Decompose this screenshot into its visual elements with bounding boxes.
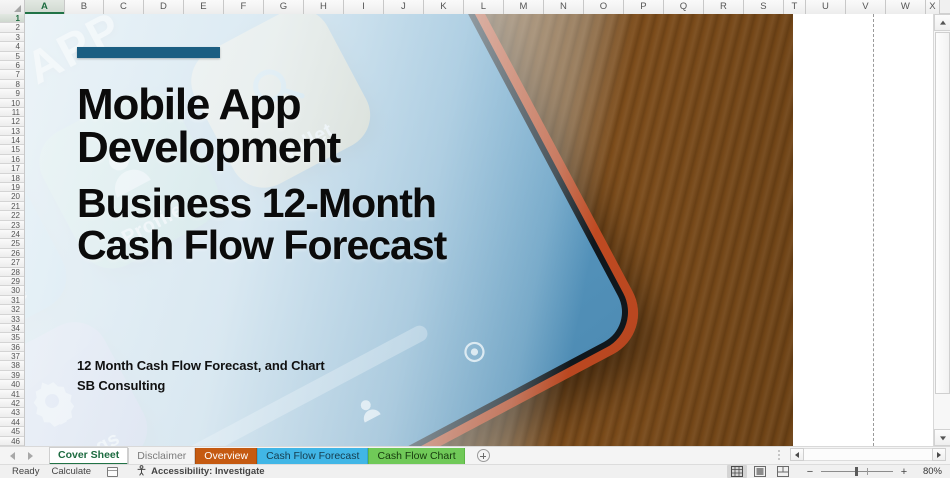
add-sheet-button[interactable]	[477, 449, 490, 462]
accessibility-status[interactable]: Accessibility: Investigate	[136, 465, 265, 478]
page-title: Mobile App Development	[77, 84, 697, 169]
page-subtitle: Business 12-Month Cash Flow Forecast	[77, 183, 697, 267]
row-header-4[interactable]: 4	[0, 42, 24, 51]
row-header-13[interactable]: 13	[0, 127, 24, 136]
row-header-30[interactable]: 30	[0, 286, 24, 295]
zoom-level-label[interactable]: 80%	[916, 466, 942, 477]
column-header-c[interactable]: C	[104, 0, 144, 14]
sheet-tab-cash-flow-forecast[interactable]: Cash Flow Forecast	[257, 448, 368, 465]
sheet-tab-overview[interactable]: Overview	[195, 448, 257, 465]
zoom-in-button[interactable]: +	[898, 466, 910, 478]
sheet-tabs[interactable]: Cover SheetDisclaimerOverviewCash Flow F…	[49, 447, 465, 465]
scroll-down-button[interactable]	[934, 429, 950, 446]
cover-text-block: Mobile App Development Business 12-Month…	[77, 84, 697, 267]
excel-window: ABCDEFGHIJKLMNOPQRSTUVWX 123456789101112…	[0, 0, 950, 478]
sheet-tab-label: Cover Sheet	[58, 447, 119, 463]
row-header-15[interactable]: 15	[0, 145, 24, 154]
column-header-u[interactable]: U	[806, 0, 846, 14]
row-header-9[interactable]: 9	[0, 89, 24, 98]
status-calculate[interactable]: Calculate	[51, 466, 91, 477]
row-header-19[interactable]: 19	[0, 183, 24, 192]
row-header-23[interactable]: 23	[0, 221, 24, 230]
row-header-7[interactable]: 7	[0, 70, 24, 79]
cover-image[interactable]: 9:41 MOBILE APP	[25, 14, 793, 446]
row-header-16[interactable]: 16	[0, 155, 24, 164]
column-header-q[interactable]: Q	[664, 0, 704, 14]
print-area-boundary	[873, 14, 874, 446]
sheet-tab-disclaimer[interactable]: Disclaimer	[128, 448, 195, 465]
select-all-button[interactable]	[0, 0, 25, 14]
row-header-39[interactable]: 39	[0, 371, 24, 380]
scroll-resize-grip[interactable]	[776, 449, 783, 460]
sheet-tab-cash-flow-chart[interactable]: Cash Flow Chart	[368, 448, 464, 465]
normal-view-button[interactable]	[727, 465, 747, 478]
column-header-j[interactable]: J	[384, 0, 424, 14]
row-header-21[interactable]: 21	[0, 202, 24, 211]
row-header-40[interactable]: 40	[0, 380, 24, 389]
column-header-i[interactable]: I	[344, 0, 384, 14]
column-header-row: ABCDEFGHIJKLMNOPQRSTUVWX	[0, 0, 950, 14]
row-header-43[interactable]: 43	[0, 408, 24, 417]
column-header-a[interactable]: A	[25, 0, 65, 14]
row-header-18[interactable]: 18	[0, 174, 24, 183]
row-header-6[interactable]: 6	[0, 61, 24, 70]
row-header-5[interactable]: 5	[0, 52, 24, 61]
sheet-tab-label: Cash Flow Chart	[377, 448, 455, 464]
column-header-t[interactable]: T	[784, 0, 806, 14]
column-header-r[interactable]: R	[704, 0, 744, 14]
column-header-l[interactable]: L	[464, 0, 504, 14]
row-header-2[interactable]: 2	[0, 23, 24, 32]
row-header-8[interactable]: 8	[0, 80, 24, 89]
accessibility-icon	[136, 465, 147, 478]
vertical-scrollbar[interactable]	[933, 14, 950, 446]
row-header-17[interactable]: 17	[0, 164, 24, 173]
accessibility-label: Accessibility: Investigate	[151, 466, 265, 477]
next-sheet-icon[interactable]	[28, 452, 33, 460]
row-header-36[interactable]: 36	[0, 343, 24, 352]
zoom-midpoint-tick	[867, 468, 868, 475]
row-header-11[interactable]: 11	[0, 108, 24, 117]
sheet-tab-label: Disclaimer	[137, 448, 186, 464]
scroll-left-button[interactable]	[790, 448, 804, 461]
cover-footer-text: 12 Month Cash Flow Forecast, and Chart S…	[77, 356, 325, 396]
column-header-g[interactable]: G	[264, 0, 304, 14]
column-header-v[interactable]: V	[846, 0, 886, 14]
accent-bar	[77, 47, 220, 58]
row-header-26[interactable]: 26	[0, 249, 24, 258]
row-header-10[interactable]: 10	[0, 99, 24, 108]
zoom-track[interactable]	[821, 471, 893, 472]
row-header-41[interactable]: 41	[0, 390, 24, 399]
row-header-27[interactable]: 27	[0, 258, 24, 267]
previous-sheet-icon[interactable]	[10, 452, 15, 460]
row-header-24[interactable]: 24	[0, 230, 24, 239]
sheet-tab-cover-sheet[interactable]: Cover Sheet	[49, 447, 128, 465]
row-header-1[interactable]: 1	[0, 14, 24, 23]
column-header-d[interactable]: D	[144, 0, 184, 14]
worksheet-grid[interactable]: 9:41 MOBILE APP	[25, 14, 933, 446]
column-header-f[interactable]: F	[224, 0, 264, 14]
row-header-25[interactable]: 25	[0, 239, 24, 248]
row-header-32[interactable]: 32	[0, 305, 24, 314]
column-header-x[interactable]: X	[926, 0, 940, 14]
row-header-35[interactable]: 35	[0, 333, 24, 342]
row-header-34[interactable]: 34	[0, 324, 24, 333]
horizontal-scrollbar[interactable]	[776, 447, 946, 462]
horizontal-scroll-track[interactable]	[804, 448, 932, 461]
zoom-thumb[interactable]	[855, 467, 858, 476]
row-header-14[interactable]: 14	[0, 136, 24, 145]
zoom-slider[interactable]: − +	[804, 466, 910, 478]
page-title-line1: Mobile App	[77, 84, 697, 127]
zoom-out-button[interactable]: −	[804, 466, 816, 478]
macro-record-icon[interactable]	[107, 467, 118, 477]
cover-footer-line1: 12 Month Cash Flow Forecast, and Chart	[77, 356, 325, 376]
row-header-28[interactable]: 28	[0, 268, 24, 277]
column-header-p[interactable]: P	[624, 0, 664, 14]
row-header-29[interactable]: 29	[0, 277, 24, 286]
row-header-3[interactable]: 3	[0, 33, 24, 42]
row-header-31[interactable]: 31	[0, 296, 24, 305]
scroll-right-button[interactable]	[932, 448, 946, 461]
page-subtitle-line2: Cash Flow Forecast	[77, 225, 697, 267]
row-header-44[interactable]: 44	[0, 418, 24, 427]
column-header-s[interactable]: S	[744, 0, 784, 14]
page-subtitle-line1: Business 12-Month	[77, 183, 697, 225]
status-right-tools: − + 80%	[727, 465, 950, 478]
sheet-tab-label: Cash Flow Forecast	[266, 448, 359, 464]
page-title-line2: Development	[77, 127, 697, 170]
row-header-column: 1234567891011121314151617181920212223242…	[0, 14, 25, 446]
scroll-up-button[interactable]	[934, 14, 950, 31]
row-header-33[interactable]: 33	[0, 315, 24, 324]
row-header-20[interactable]: 20	[0, 192, 24, 201]
row-header-37[interactable]: 37	[0, 352, 24, 361]
sheet-tab-label: Overview	[204, 448, 248, 464]
row-header-22[interactable]: 22	[0, 211, 24, 220]
column-header-m[interactable]: M	[504, 0, 544, 14]
row-header-45[interactable]: 45	[0, 427, 24, 436]
row-header-46[interactable]: 46	[0, 437, 24, 446]
vertical-scroll-thumb[interactable]	[935, 32, 950, 394]
column-header-n[interactable]: N	[544, 0, 584, 14]
column-header-w[interactable]: W	[886, 0, 926, 14]
sheet-tab-nav[interactable]	[10, 452, 33, 460]
status-mode: Ready	[12, 466, 39, 477]
status-bar: Ready Calculate Accessibility: Investiga…	[0, 464, 950, 478]
column-header-e[interactable]: E	[184, 0, 224, 14]
page-break-view-button[interactable]	[773, 465, 793, 478]
row-header-12[interactable]: 12	[0, 117, 24, 126]
column-header-k[interactable]: K	[424, 0, 464, 14]
page-layout-view-button[interactable]	[750, 465, 770, 478]
column-header-h[interactable]: H	[304, 0, 344, 14]
column-header-o[interactable]: O	[584, 0, 624, 14]
cover-footer-line2: SB Consulting	[77, 376, 325, 396]
row-header-38[interactable]: 38	[0, 361, 24, 370]
column-header-b[interactable]: B	[65, 0, 104, 14]
row-header-42[interactable]: 42	[0, 399, 24, 408]
